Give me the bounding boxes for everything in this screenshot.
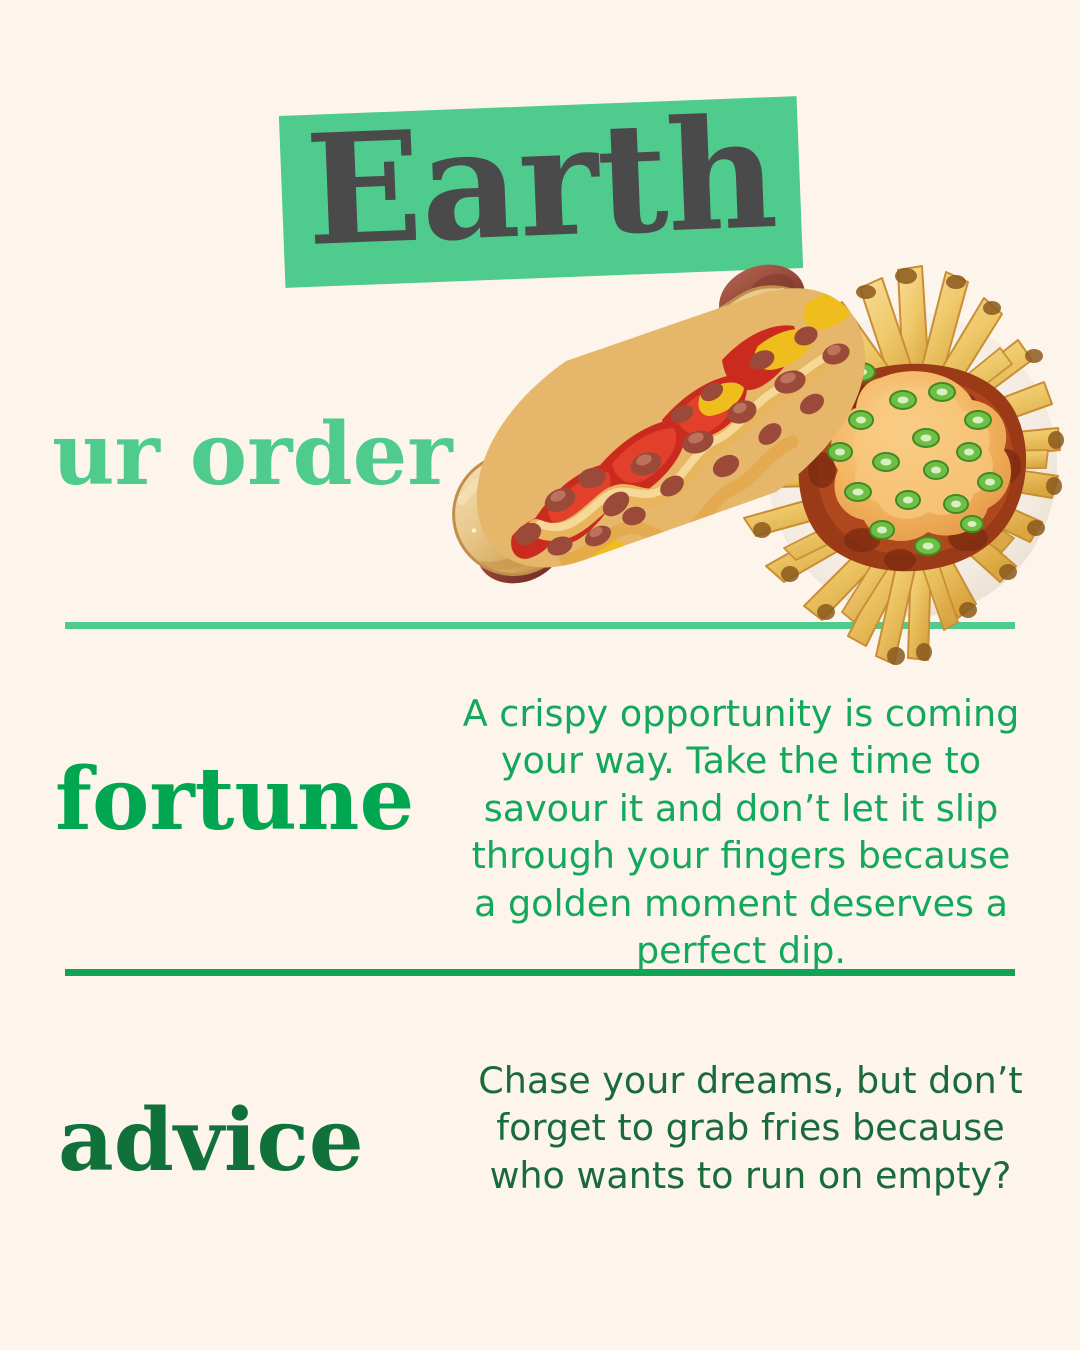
section-label-order: ur order bbox=[52, 412, 453, 498]
fortune-text: A crispy opportunity is coming your way.… bbox=[460, 690, 1022, 975]
section-label-fortune: fortune bbox=[55, 757, 414, 843]
advice-text: Chase your dreams, but don’t forget to g… bbox=[478, 1057, 1023, 1199]
section-label-advice: advice bbox=[58, 1098, 364, 1184]
loaded-hot-dog-photo bbox=[431, 253, 900, 600]
divider-fortune bbox=[65, 969, 1015, 976]
divider-order bbox=[65, 622, 1015, 629]
page-title: Earth bbox=[279, 86, 803, 278]
chili-cheese-fries-photo bbox=[734, 266, 1064, 665]
fortune-card: Earth bbox=[0, 0, 1080, 1350]
